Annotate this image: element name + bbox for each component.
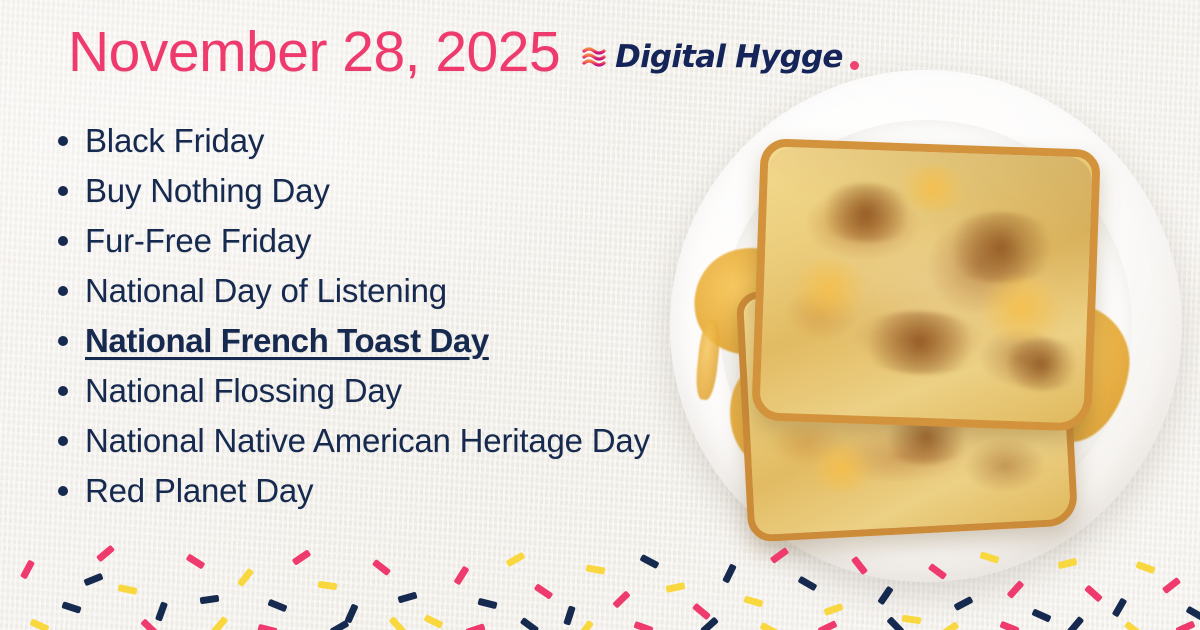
dot-icon: [850, 61, 859, 70]
confetti-sprinkle: [979, 551, 999, 564]
toast-char-mark: [940, 211, 1062, 285]
confetti-sprinkle: [586, 564, 606, 574]
confetti-sprinkle: [722, 563, 737, 583]
brand-logo[interactable]: Digital Hygge: [582, 42, 859, 73]
list-item: Black Friday: [58, 116, 758, 166]
social-card: November 28, 2025 Digital Hygge Black Fr…: [0, 0, 1200, 630]
toast-char-mark: [998, 337, 1084, 392]
confetti-sprinkle: [292, 549, 312, 565]
holiday-label: National French Toast Day: [85, 316, 489, 366]
confetti-sprinkle: [1112, 598, 1128, 618]
confetti-sprinkle: [20, 559, 35, 579]
confetti-sprinkle: [267, 599, 287, 613]
confetti-sprinkle: [186, 553, 206, 569]
confetti-border: [0, 538, 1200, 630]
confetti-sprinkle: [534, 583, 554, 599]
toast-char-mark: [853, 310, 987, 377]
confetti-sprinkle: [563, 605, 576, 625]
confetti-sprinkle: [1084, 585, 1103, 603]
confetti-sprinkle: [999, 621, 1019, 630]
confetti-sprinkle: [770, 547, 789, 564]
bullet-icon: [58, 186, 68, 196]
bullet-icon: [58, 486, 68, 496]
confetti-sprinkle: [817, 620, 837, 630]
confetti-sprinkle: [397, 592, 417, 604]
confetti-sprinkle: [29, 618, 49, 630]
holiday-label: Fur-Free Friday: [85, 216, 311, 266]
confetti-sprinkle: [453, 566, 469, 586]
bullet-icon: [58, 386, 68, 396]
confetti-sprinkle: [61, 601, 81, 614]
confetti-sprinkle: [940, 621, 960, 630]
confetti-sprinkle: [1007, 580, 1025, 599]
bullet-icon: [58, 236, 68, 246]
confetti-sprinkle: [117, 584, 137, 595]
holiday-list: Black FridayBuy Nothing DayFur-Free Frid…: [58, 116, 758, 516]
confetti-sprinkle: [330, 620, 350, 630]
confetti-sprinkle: [257, 624, 277, 630]
confetti-sprinkle: [928, 563, 947, 580]
confetti-sprinkle: [700, 617, 719, 630]
confetti-sprinkle: [612, 590, 631, 608]
confetti-sprinkle: [1186, 606, 1200, 622]
confetti-sprinkle: [423, 614, 443, 629]
holiday-label: National Flossing Day: [85, 366, 402, 416]
bullet-icon: [58, 436, 68, 446]
confetti-sprinkle: [83, 573, 103, 587]
confetti-sprinkle: [140, 618, 159, 630]
holiday-label: Buy Nothing Day: [85, 166, 330, 216]
holiday-label: Red Planet Day: [85, 466, 313, 516]
toast-slice-front: [751, 138, 1101, 432]
confetti-sprinkle: [520, 617, 539, 630]
list-item: National Flossing Day: [58, 366, 758, 416]
confetti-sprinkle: [577, 620, 594, 630]
confetti-sprinkle: [851, 556, 868, 575]
confetti-sprinkle: [743, 596, 763, 608]
confetti-sprinkle: [953, 596, 973, 611]
wave-lines-icon: [582, 45, 610, 71]
confetti-sprinkle: [823, 603, 843, 616]
confetti-sprinkle: [96, 545, 115, 563]
confetti-sprinkle: [318, 581, 338, 591]
confetti-sprinkle: [389, 616, 407, 630]
confetti-sprinkle: [798, 576, 818, 592]
confetti-sprinkle: [902, 615, 922, 625]
bullet-icon: [58, 136, 68, 146]
confetti-sprinkle: [506, 552, 526, 568]
confetti-sprinkle: [1031, 608, 1051, 622]
list-item[interactable]: National French Toast Day: [58, 316, 758, 366]
confetti-sprinkle: [1175, 620, 1195, 630]
list-item: National Day of Listening: [58, 266, 758, 316]
list-item: Fur-Free Friday: [58, 216, 758, 266]
confetti-sprinkle: [155, 601, 168, 621]
confetti-sprinkle: [1162, 577, 1181, 594]
list-item: Red Planet Day: [58, 466, 758, 516]
list-item: Buy Nothing Day: [58, 166, 758, 216]
page-title: November 28, 2025: [68, 24, 560, 81]
confetti-sprinkle: [1135, 561, 1155, 574]
holiday-label: National Day of Listening: [85, 266, 447, 316]
confetti-sprinkle: [633, 621, 653, 630]
bullet-icon: [58, 286, 68, 296]
brand-name: Digital Hygge: [615, 42, 843, 73]
toast-gloss: [972, 274, 1070, 343]
holiday-label: Black Friday: [85, 116, 264, 166]
confetti-sprinkle: [1124, 621, 1143, 630]
confetti-sprinkle: [1057, 558, 1077, 569]
confetti-sprinkle: [477, 598, 497, 609]
confetti-sprinkle: [759, 622, 779, 630]
toast-gloss: [785, 257, 873, 322]
confetti-sprinkle: [465, 623, 485, 630]
toast-gloss: [805, 443, 879, 495]
confetti-sprinkle: [372, 559, 391, 576]
holiday-label: National Native American Heritage Day: [85, 416, 650, 466]
header: November 28, 2025 Digital Hygge: [68, 24, 859, 81]
confetti-sprinkle: [692, 603, 711, 621]
confetti-sprinkle: [1067, 616, 1085, 630]
list-item: National Native American Heritage Day: [58, 416, 758, 466]
confetti-sprinkle: [877, 586, 893, 606]
confetti-sprinkle: [237, 568, 254, 587]
confetti-sprinkle: [200, 595, 220, 605]
bullet-icon: [58, 336, 68, 346]
confetti-sprinkle: [639, 554, 659, 569]
confetti-sprinkle: [665, 582, 685, 593]
confetti-sprinkle: [211, 616, 229, 630]
